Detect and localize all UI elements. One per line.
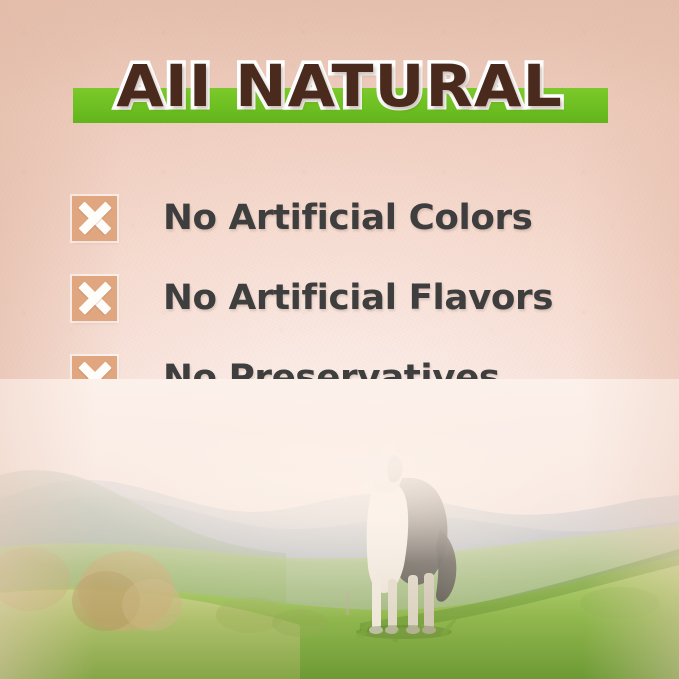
landscape-photo [0, 379, 679, 679]
headline-banner: AII NATURAL [0, 40, 679, 132]
x-mark-icon [72, 196, 117, 241]
all-natural-poster: AII NATURAL No Artificial Colors No Arti… [0, 0, 679, 679]
list-item: No Artificial Colors [72, 178, 632, 258]
x-mark-icon [72, 276, 117, 321]
claim-label: No Artificial Colors [163, 198, 532, 238]
list-item: No Artificial Flavors [72, 258, 632, 338]
claim-label: No Artificial Flavors [163, 278, 553, 318]
photo-illustration [0, 379, 679, 679]
page-title: AII NATURAL [0, 40, 679, 132]
